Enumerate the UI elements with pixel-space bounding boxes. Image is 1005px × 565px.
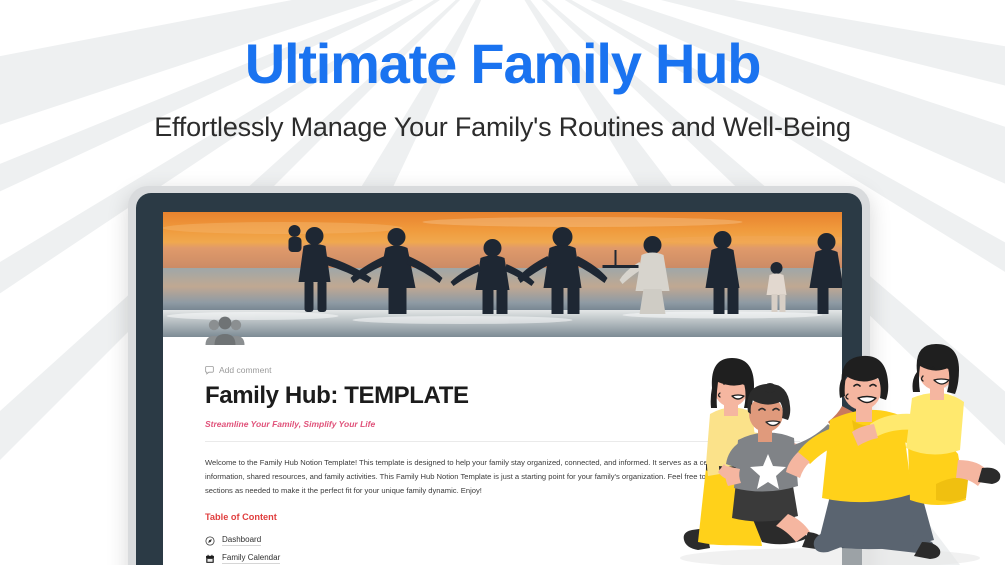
comment-bubble-icon (205, 366, 214, 375)
beach-sunset-photo (163, 212, 842, 337)
toc-item-label: Family Calendar (222, 554, 280, 564)
toc-heading: Table of Content (205, 512, 800, 522)
compass-icon (205, 536, 215, 546)
toc-item-family-calendar[interactable]: Family Calendar (205, 554, 800, 564)
people-group-icon[interactable] (205, 315, 245, 347)
promo-banner: Ultimate Family Hub Effortlessly Manage … (0, 0, 1005, 565)
divider (205, 441, 800, 442)
add-comment-label: Add comment (219, 365, 271, 375)
notion-cover-image[interactable] (163, 212, 842, 337)
page-title: Ultimate Family Hub (0, 34, 1005, 94)
add-comment-button[interactable]: Add comment (205, 365, 800, 375)
page-subtitle: Effortlessly Manage Your Family's Routin… (0, 112, 1005, 143)
notion-intro-paragraph: Welcome to the Family Hub Notion Templat… (205, 456, 800, 498)
laptop-screen: Add comment Family Hub: TEMPLATE Streaml… (163, 212, 842, 565)
laptop-mockup: Add comment Family Hub: TEMPLATE Streaml… (128, 186, 870, 565)
notion-tagline: Streamline Your Family, Simplify Your Li… (205, 419, 800, 429)
calendar-icon (205, 554, 215, 564)
notion-page-body: Add comment Family Hub: TEMPLATE Streaml… (163, 337, 842, 565)
toc-item-label: Dashboard (222, 536, 261, 546)
notion-page-title: Family Hub: TEMPLATE (205, 382, 800, 411)
toc-item-dashboard[interactable]: Dashboard (205, 536, 800, 546)
